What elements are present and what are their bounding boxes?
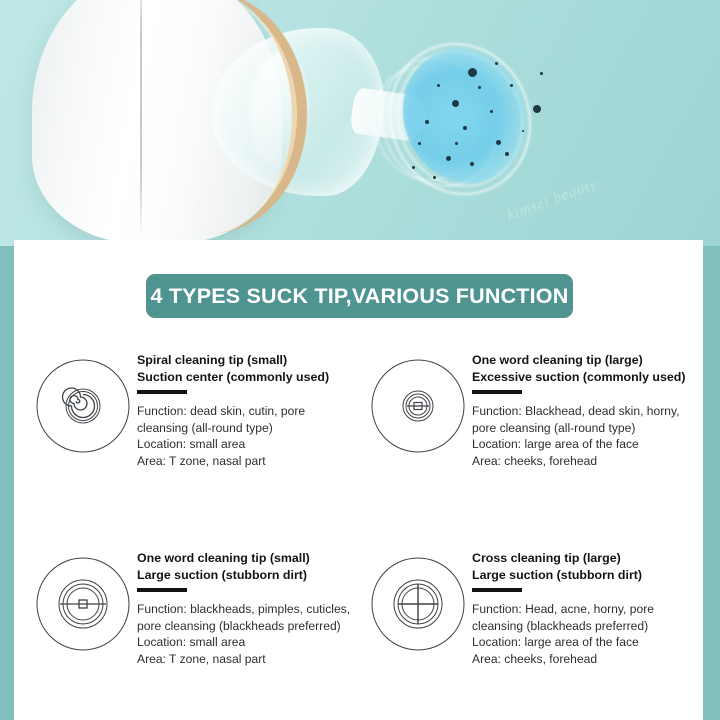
tip-entry-spiral: Spiral cleaning tip (small) Suction cent… bbox=[35, 352, 329, 469]
debris-particle bbox=[468, 68, 477, 77]
debris-particle bbox=[418, 142, 421, 145]
tip-heading-line1: One word cleaning tip (large) bbox=[472, 352, 685, 369]
tip-detail-line: Location: large area of the face bbox=[472, 634, 654, 651]
heading-underline bbox=[137, 588, 187, 592]
tip-detail-line: Location: large area of the face bbox=[472, 436, 685, 453]
debris-particle bbox=[455, 142, 458, 145]
cross-tip-icon bbox=[370, 556, 466, 652]
tip-heading-line2: Large suction (stubborn dirt) bbox=[137, 567, 350, 584]
tip-entry-cross: Cross cleaning tip (large) Large suction… bbox=[370, 550, 654, 667]
tip-heading-line2: Excessive suction (commonly used) bbox=[472, 369, 685, 386]
tip-entry-one-word-large: One word cleaning tip (large) Excessive … bbox=[370, 352, 685, 469]
section-title-text: 4 TYPES SUCK TIP,VARIOUS FUNCTION bbox=[151, 284, 569, 309]
tip-entry-one-word-small: One word cleaning tip (small) Large suct… bbox=[35, 550, 350, 667]
slot-small-tip-icon bbox=[370, 358, 466, 454]
tip-heading-line2: Large suction (stubborn dirt) bbox=[472, 567, 654, 584]
device-seam bbox=[140, 0, 142, 236]
slot-large-tip-icon bbox=[35, 556, 131, 652]
tip-detail-line: Function: dead skin, cutin, pore bbox=[137, 403, 329, 420]
heading-underline bbox=[472, 390, 522, 394]
debris-particle bbox=[412, 166, 415, 169]
debris-particle bbox=[490, 110, 493, 113]
tip-detail-line: Area: cheeks, forehead bbox=[472, 453, 685, 470]
debris-particle bbox=[463, 126, 467, 130]
debris-particle bbox=[470, 162, 474, 166]
debris-particle bbox=[433, 176, 436, 179]
debris-particle bbox=[540, 72, 543, 75]
section-title-banner: 4 TYPES SUCK TIP,VARIOUS FUNCTION bbox=[146, 274, 573, 318]
heading-underline bbox=[137, 390, 187, 394]
infographic-page: kimsei beauty kimsei beauty 4 TYPES SUCK… bbox=[0, 0, 720, 720]
tip-detail-line: Area: T zone, nasal part bbox=[137, 453, 329, 470]
debris-particle bbox=[533, 105, 541, 113]
debris-particle bbox=[446, 156, 451, 161]
debris-particle bbox=[478, 86, 481, 89]
product-photo: kimsei beauty kimsei beauty bbox=[0, 0, 720, 246]
debris-particle bbox=[452, 100, 459, 107]
tip-detail-line: Area: T zone, nasal part bbox=[137, 651, 350, 668]
tip-detail-line: cleansing (all-round type) bbox=[137, 420, 329, 437]
debris-particle bbox=[425, 120, 429, 124]
tip-detail-line: cleansing (blackheads preferred) bbox=[472, 618, 654, 635]
tip-text-block: One word cleaning tip (small) Large suct… bbox=[137, 550, 350, 667]
debris-particle bbox=[495, 62, 498, 65]
tip-heading-line1: Spiral cleaning tip (small) bbox=[137, 352, 329, 369]
tip-detail-line: Location: small area bbox=[137, 436, 329, 453]
debris-particle bbox=[496, 140, 501, 145]
tip-text-block: One word cleaning tip (large) Excessive … bbox=[472, 352, 685, 469]
tip-heading-line2: Suction center (commonly used) bbox=[137, 369, 329, 386]
heading-underline bbox=[472, 588, 522, 592]
tip-detail-line: pore cleansing (all-round type) bbox=[472, 420, 685, 437]
tip-detail-line: Function: blackheads, pimples, cuticles, bbox=[137, 601, 350, 618]
debris-particle bbox=[510, 84, 513, 87]
tip-heading-line1: One word cleaning tip (small) bbox=[137, 550, 350, 567]
tip-detail-line: Area: cheeks, forehead bbox=[472, 651, 654, 668]
tip-heading-line1: Cross cleaning tip (large) bbox=[472, 550, 654, 567]
tip-detail-line: pore cleansing (blackheads preferred) bbox=[137, 618, 350, 635]
debris-particle bbox=[437, 84, 440, 87]
photo-watermark-right: kimsei beauty bbox=[505, 176, 600, 224]
debris-particle bbox=[505, 152, 509, 156]
tip-detail-line: Function: Blackhead, dead skin, horny, bbox=[472, 403, 685, 420]
tip-text-block: Spiral cleaning tip (small) Suction cent… bbox=[137, 352, 329, 469]
tip-detail-line: Function: Head, acne, horny, pore bbox=[472, 601, 654, 618]
debris-particle bbox=[522, 130, 524, 132]
tip-detail-line: Location: small area bbox=[137, 634, 350, 651]
spiral-tip-icon bbox=[35, 358, 131, 454]
tip-text-block: Cross cleaning tip (large) Large suction… bbox=[472, 550, 654, 667]
